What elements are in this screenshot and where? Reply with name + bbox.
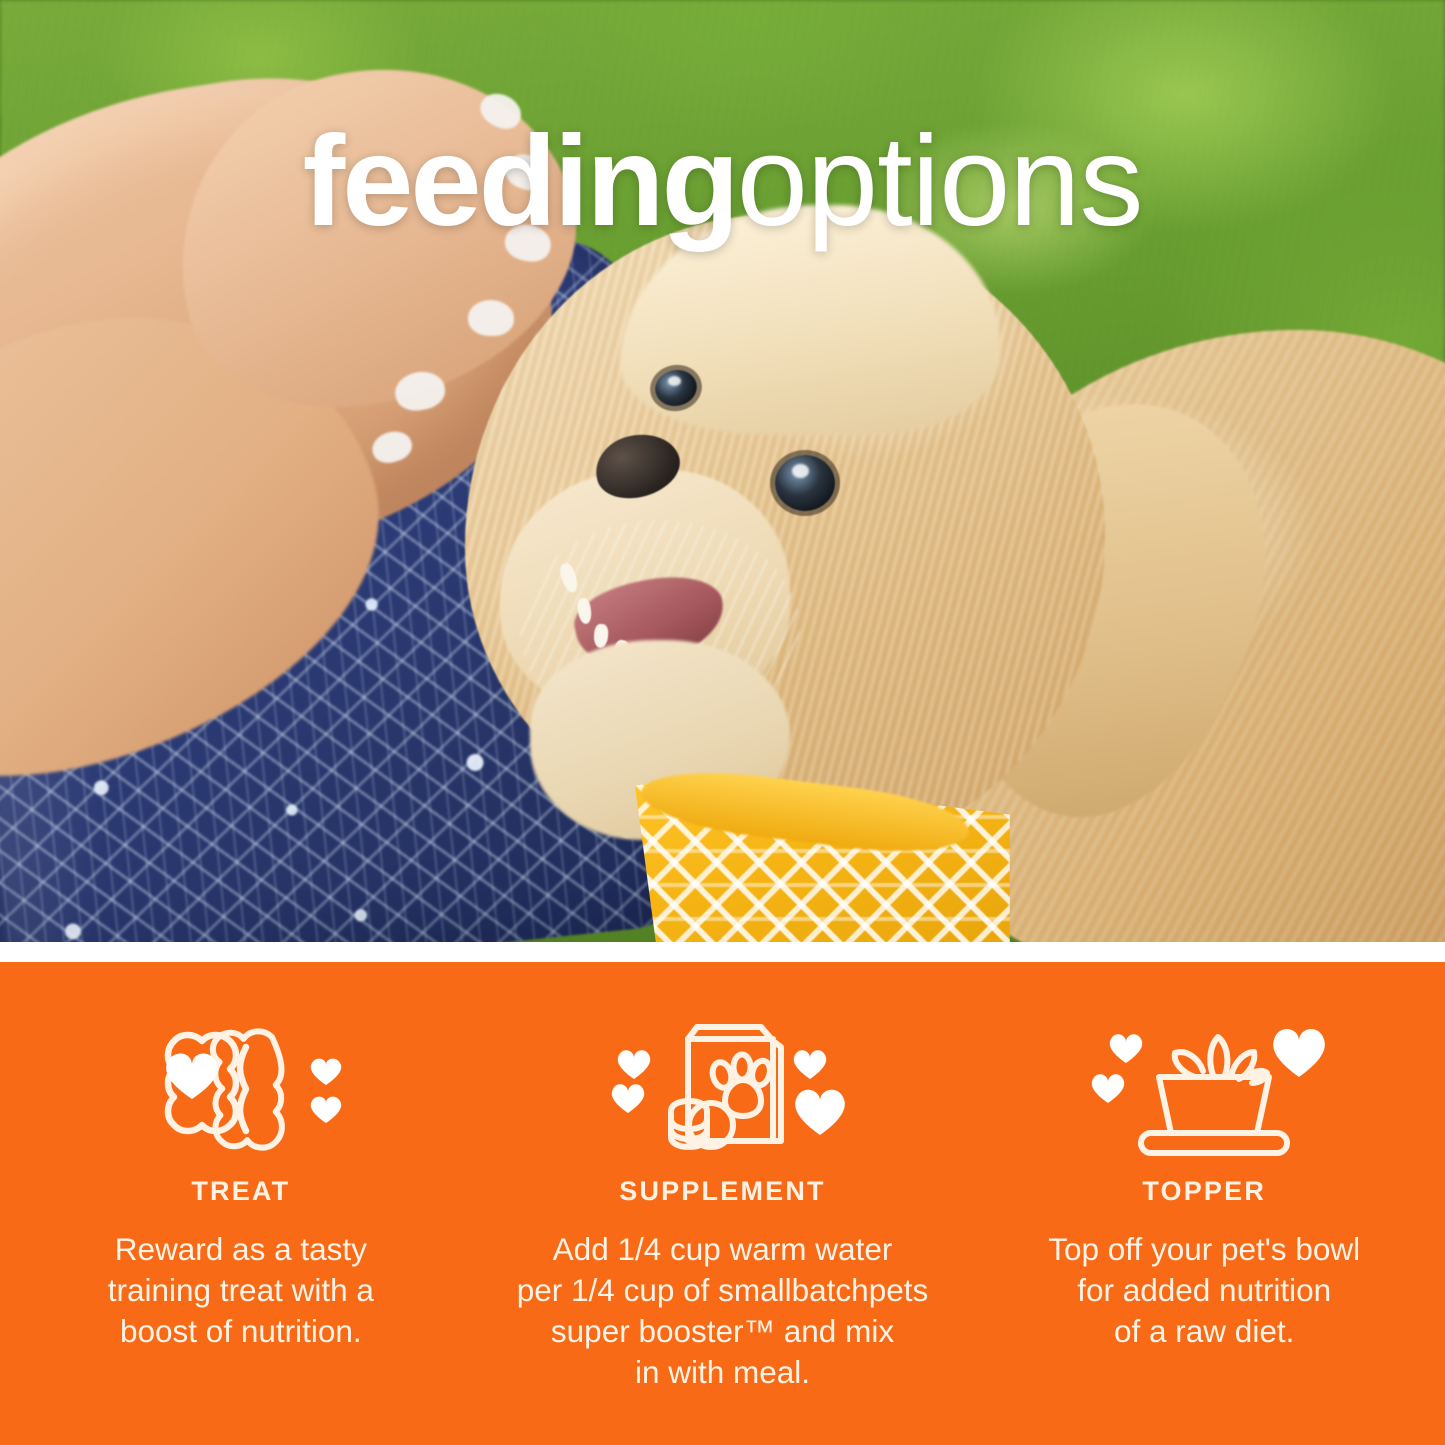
feeding-options-infographic: feedingoptions: [0, 0, 1445, 1445]
food-bowl-icon: [1079, 1010, 1329, 1170]
feeding-option-topper: TOPPER Top off your pet's bowl for added…: [963, 962, 1445, 1445]
feeding-option-title: TREAT: [191, 1176, 290, 1207]
feeding-option-description: Add 1/4 cup warm water per 1/4 cup of sm…: [488, 1229, 958, 1393]
feeding-option-supplement: SUPPLEMENT Add 1/4 cup warm water per 1/…: [482, 962, 964, 1445]
page-title: feedingoptions: [0, 118, 1445, 246]
feeding-option-title: SUPPLEMENT: [619, 1176, 826, 1207]
hero-photo: feedingoptions: [0, 0, 1445, 942]
feeding-options-columns: TREAT Reward as a tasty training treat w…: [0, 962, 1445, 1445]
dog-eye-highlight: [668, 376, 681, 386]
dog-eye-highlight: [792, 464, 809, 478]
feeding-options-panel: TREAT Reward as a tasty training treat w…: [0, 962, 1445, 1445]
fingernail: [467, 299, 514, 337]
dog-eye-right: [775, 455, 835, 511]
page-title-light: options: [737, 110, 1143, 253]
feeding-option-description: Reward as a tasty training treat with a …: [76, 1229, 406, 1352]
page-title-bold: feeding: [303, 110, 737, 253]
food-bag-icon: [593, 1010, 853, 1170]
feeding-option-description: Top off your pet's bowl for added nutrit…: [1004, 1229, 1404, 1352]
feeding-option-treat: TREAT Reward as a tasty training treat w…: [0, 962, 482, 1445]
feeding-option-title: TOPPER: [1142, 1176, 1266, 1207]
dog-bone-icon: [126, 1010, 356, 1170]
